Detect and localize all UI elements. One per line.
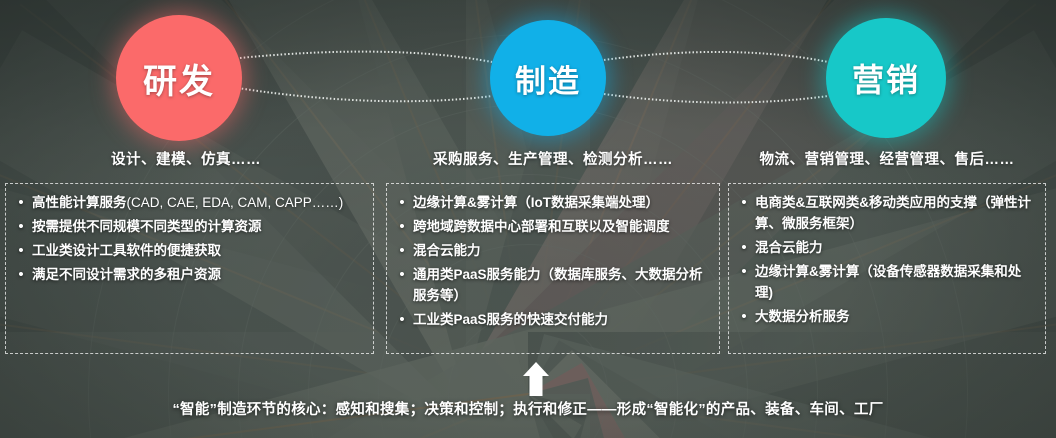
bullet-text: 工业类设计工具软件的便捷获取 [32, 240, 367, 261]
node-rd[interactable]: 研发 [116, 15, 242, 141]
bullet-text: 工业类PaaS服务的快速交付能力 [413, 309, 713, 330]
bullet-item: •满足不同设计需求的多租户资源 [10, 264, 367, 285]
bullet-text: 按需提供不同规模不同类型的计算资源 [32, 216, 367, 237]
footer-caption: “智能”制造环节的核心：感知和搜集；决策和控制；执行和修正——形成“智能化”的产… [0, 398, 1056, 419]
bullet-dot-icon: • [10, 264, 32, 285]
column-heading-marketing: 物流、营销管理、经营管理、售后…… [728, 148, 1046, 169]
bullet-list-manufacturing: •边缘计算&雾计算（IoT数据采集端处理）•跨地域跨数据中心部署和互联以及智能调… [391, 192, 713, 330]
bullet-dot-icon: • [391, 216, 413, 237]
column-heading-manufacturing: 采购服务、生产管理、检测分析…… [386, 148, 720, 169]
bullet-text: 混合云能力 [755, 237, 1039, 258]
bullet-dot-icon: • [391, 192, 413, 213]
bullet-dot-icon: • [391, 264, 413, 285]
bullet-text: 混合云能力 [413, 240, 713, 261]
bullet-dot-icon: • [733, 237, 755, 258]
bullet-panel-rd: •高性能计算服务(CAD, CAE, EDA, CAM, CAPP……)•按需提… [5, 183, 374, 354]
bullet-dot-icon: • [10, 216, 32, 237]
bullet-item: •混合云能力 [391, 240, 713, 261]
bullet-list-rd: •高性能计算服务(CAD, CAE, EDA, CAM, CAPP……)•按需提… [10, 192, 367, 285]
bullet-item: •电商类&互联网类&移动类应用的支撑（弹性计算、微服务框架） [733, 192, 1039, 234]
bullet-text: 边缘计算&雾计算（设备传感器数据采集和处理) [755, 261, 1039, 303]
node-manufacturing[interactable]: 制造 [490, 20, 606, 136]
bullet-text: 通用类PaaS服务能力（数据库服务、大数据分析服务等） [413, 264, 713, 306]
bullet-item: •大数据分析服务 [733, 306, 1039, 327]
node-marketing[interactable]: 营销 [826, 18, 946, 138]
bullet-text: 电商类&互联网类&移动类应用的支撑（弹性计算、微服务框架） [755, 192, 1039, 234]
bullet-text: 满足不同设计需求的多租户资源 [32, 264, 367, 285]
bullet-dot-icon: • [10, 192, 32, 213]
bullet-item: •通用类PaaS服务能力（数据库服务、大数据分析服务等） [391, 264, 713, 306]
bullet-item: •跨地域跨数据中心部署和互联以及智能调度 [391, 216, 713, 237]
bullet-dot-icon: • [10, 240, 32, 261]
arrow-up-icon [523, 362, 549, 396]
bullet-item: •工业类设计工具软件的便捷获取 [10, 240, 367, 261]
bullet-item: •混合云能力 [733, 237, 1039, 258]
bullet-text-secondary: (CAD, CAE, EDA, CAM, CAPP……) [127, 195, 344, 210]
bullet-panel-manufacturing: •边缘计算&雾计算（IoT数据采集端处理）•跨地域跨数据中心部署和互联以及智能调… [386, 183, 720, 354]
node-manufacturing-label: 制造 [515, 56, 581, 101]
bullet-dot-icon: • [733, 192, 755, 213]
bullet-item: •边缘计算&雾计算（IoT数据采集端处理） [391, 192, 713, 213]
bullet-text: 边缘计算&雾计算（IoT数据采集端处理） [413, 192, 713, 213]
bullet-dot-icon: • [391, 240, 413, 261]
bullet-text: 跨地域跨数据中心部署和互联以及智能调度 [413, 216, 713, 237]
node-rd-label: 研发 [143, 54, 215, 103]
bullet-dot-icon: • [391, 309, 413, 330]
bullet-text: 高性能计算服务(CAD, CAE, EDA, CAM, CAPP……) [32, 192, 367, 213]
column-heading-rd: 设计、建模、仿真…… [0, 148, 372, 169]
bullet-text: 大数据分析服务 [755, 306, 1039, 327]
bullet-item: •高性能计算服务(CAD, CAE, EDA, CAM, CAPP……) [10, 192, 367, 213]
bullet-dot-icon: • [733, 261, 755, 282]
bullet-item: •边缘计算&雾计算（设备传感器数据采集和处理) [733, 261, 1039, 303]
bullet-list-marketing: •电商类&互联网类&移动类应用的支撑（弹性计算、微服务框架）•混合云能力•边缘计… [733, 192, 1039, 327]
bullet-item: •工业类PaaS服务的快速交付能力 [391, 309, 713, 330]
bullet-panel-marketing: •电商类&互联网类&移动类应用的支撑（弹性计算、微服务框架）•混合云能力•边缘计… [728, 183, 1046, 354]
slide-canvas: 研发 制造 营销 设计、建模、仿真…… 采购服务、生产管理、检测分析…… 物流、… [0, 0, 1056, 438]
bullet-dot-icon: • [733, 306, 755, 327]
bullet-item: •按需提供不同规模不同类型的计算资源 [10, 216, 367, 237]
node-marketing-label: 营销 [852, 55, 920, 101]
